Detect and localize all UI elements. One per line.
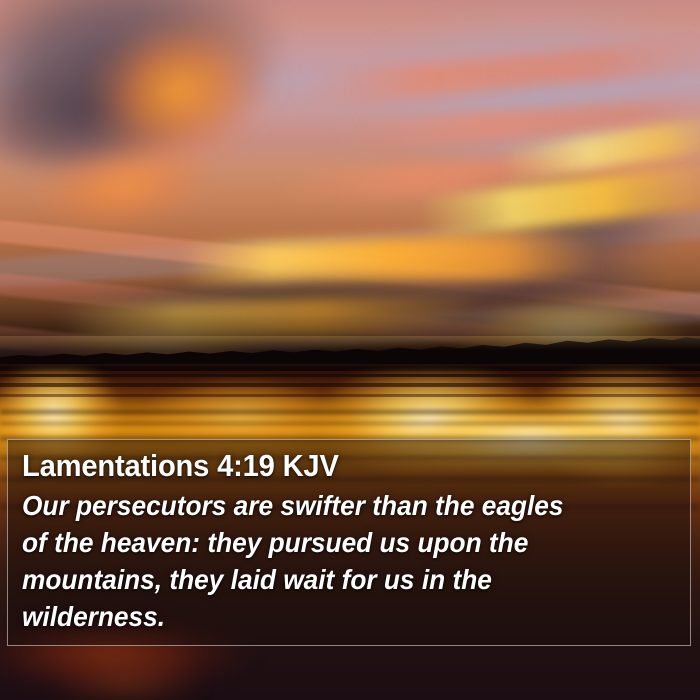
water-ripple-2 [0, 422, 700, 425]
verse-line: Our persecutors are swifter than the eag… [22, 487, 647, 524]
water-shore-band-3 [0, 383, 700, 387]
water-ripple-1 [0, 410, 700, 414]
verse-overlay-panel: Lamentations 4:19 KJV Our persecutors ar… [7, 439, 691, 646]
verse-line: of the heaven: they pursued us upon the [22, 524, 647, 561]
sky-background [0, 0, 700, 368]
water-shore-band-2 [0, 374, 700, 377]
verse-line: mountains, they laid wait for us in the [22, 561, 647, 598]
verse-line: wilderness. [22, 598, 647, 635]
verse-image: Lamentations 4:19 KJV Our persecutors ar… [0, 0, 700, 700]
verse-text: Our persecutors are swifter than the eag… [22, 487, 647, 635]
verse-reference-title: Lamentations 4:19 KJV [22, 448, 637, 484]
water-shore-band-4 [0, 394, 700, 397]
